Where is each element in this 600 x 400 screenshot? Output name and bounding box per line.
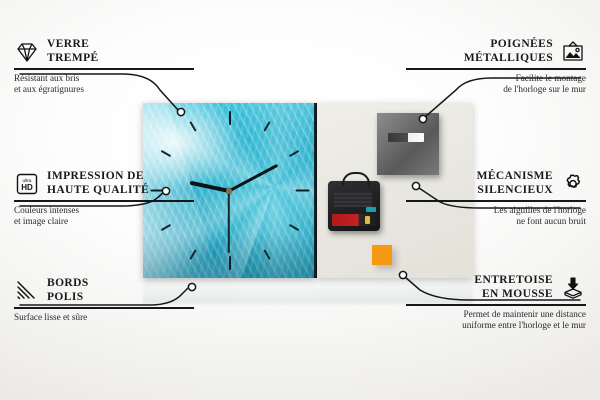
- feature-desc-line1: Facilite le montage: [406, 73, 586, 85]
- feature-description: Facilite le montage de l'horloge sur le …: [406, 73, 586, 97]
- feature-header: BORDS POLIS: [14, 277, 194, 304]
- feature-title-line1: POIGNÉES: [464, 38, 553, 52]
- feature-description: Les aiguilles de l'horloge ne font aucun…: [406, 205, 586, 229]
- feature-divider: [406, 68, 586, 69]
- feature-impression-haute-qualite: ultra HD IMPRESSION DE HAUTE QUALITÉ Cou…: [14, 170, 194, 228]
- feature-desc-line1: Couleurs intenses: [14, 205, 194, 217]
- feature-header: ultra HD IMPRESSION DE HAUTE QUALITÉ: [14, 170, 194, 197]
- feature-title-line1: IMPRESSION DE: [47, 170, 149, 184]
- feature-header: ENTRETOISE EN MOUSSE: [406, 274, 586, 301]
- feature-desc-line2: uniforme entre l'horloge et le mur: [406, 320, 586, 332]
- feature-divider: [406, 200, 586, 201]
- feature-title: ENTRETOISE EN MOUSSE: [474, 274, 553, 301]
- ultra-hd-icon-bottom-text: HD: [21, 183, 33, 192]
- callout-dot-poignees: [419, 115, 426, 122]
- picture-hanger-icon: [560, 40, 586, 64]
- feature-bords-polis: BORDS POLIS Surface lisse et sûre: [14, 277, 194, 323]
- feature-entretoise-en-mousse: ENTRETOISE EN MOUSSE Permet de maintenir…: [406, 274, 586, 332]
- ultra-hd-icon: ultra HD: [14, 172, 40, 196]
- feature-title: MÉCANISME SILENCIEUX: [477, 170, 553, 197]
- feature-desc-line1: Les aiguilles de l'horloge: [406, 205, 586, 217]
- feature-verre-trempe: VERRE TREMPÉ Résistant aux bris et aux é…: [14, 38, 194, 96]
- feature-title-line2: SILENCIEUX: [477, 184, 553, 198]
- feature-title: IMPRESSION DE HAUTE QUALITÉ: [47, 170, 149, 197]
- feature-title-line2: MÉTALLIQUES: [464, 52, 553, 66]
- feature-desc-line2: ne font aucun bruit: [406, 216, 586, 228]
- feature-title-line2: EN MOUSSE: [474, 288, 553, 302]
- feature-mecanisme-silencieux: MÉCANISME SILENCIEUX Les aiguilles de l'…: [406, 170, 586, 228]
- feature-title-line2: POLIS: [47, 291, 89, 305]
- feature-divider: [14, 200, 194, 201]
- feature-desc-line1: Permet de maintenir une distance: [406, 309, 586, 321]
- feature-divider: [14, 307, 194, 308]
- feature-description: Permet de maintenir une distance uniform…: [406, 309, 586, 333]
- callout-dot-verre: [177, 108, 184, 115]
- feature-title-line1: MÉCANISME: [477, 170, 553, 184]
- diamond-icon: [14, 40, 40, 64]
- feature-title: POIGNÉES MÉTALLIQUES: [464, 38, 553, 65]
- feature-divider: [406, 304, 586, 305]
- feature-desc-line1: Surface lisse et sûre: [14, 312, 194, 324]
- feature-description: Couleurs intenses et image claire: [14, 205, 194, 229]
- feature-title: VERRE TREMPÉ: [47, 38, 99, 65]
- feature-title-line1: BORDS: [47, 277, 89, 291]
- feature-description: Résistant aux bris et aux égratignures: [14, 73, 194, 97]
- polished-edge-icon: [14, 279, 40, 303]
- foam-spacer-icon: [560, 276, 586, 300]
- feature-desc-line2: de l'horloge sur le mur: [406, 84, 586, 96]
- feature-header: MÉCANISME SILENCIEUX: [406, 170, 586, 197]
- feature-title-line1: VERRE: [47, 38, 99, 52]
- infographic-canvas: VERRE TREMPÉ Résistant aux bris et aux é…: [0, 0, 600, 400]
- feature-desc-line2: et image claire: [14, 216, 194, 228]
- feature-title: BORDS POLIS: [47, 277, 89, 304]
- feature-desc-line2: et aux égratignures: [14, 84, 194, 96]
- gear-icon: [560, 172, 586, 196]
- feature-desc-line1: Résistant aux bris: [14, 73, 194, 85]
- feature-title-line2: TREMPÉ: [47, 52, 99, 66]
- feature-title-line2: HAUTE QUALITÉ: [47, 184, 149, 198]
- feature-divider: [14, 68, 194, 69]
- feature-header: VERRE TREMPÉ: [14, 38, 194, 65]
- feature-description: Surface lisse et sûre: [14, 312, 194, 324]
- feature-header: POIGNÉES MÉTALLIQUES: [406, 38, 586, 65]
- feature-poignees-metalliques: POIGNÉES MÉTALLIQUES Facilite le montage…: [406, 38, 586, 96]
- feature-title-line1: ENTRETOISE: [474, 274, 553, 288]
